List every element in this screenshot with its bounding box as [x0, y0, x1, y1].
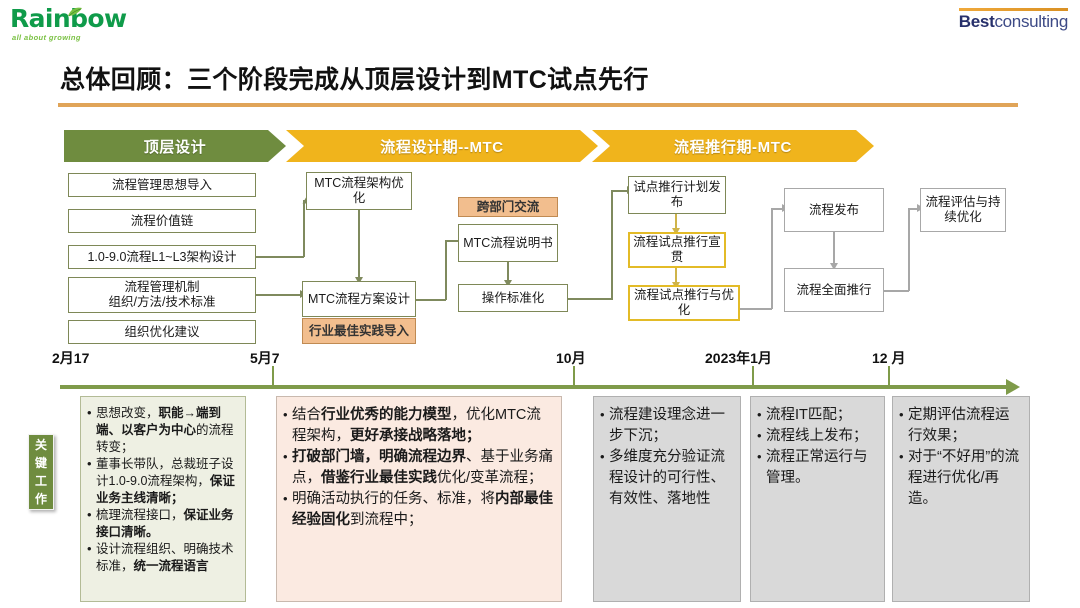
best-logo-bold: Best [959, 12, 995, 31]
best-logo-light: consulting [994, 12, 1068, 31]
slide-root: Rainbow all about growing Bestconsulting… [0, 0, 1080, 608]
rainbow-logo: Rainbow all about growing [10, 6, 140, 44]
connector-l1l3-to-arch-v [303, 200, 305, 257]
flow-box-mgmt-mechanism[interactable]: 流程管理机制 组织/方法/技术标准 [68, 277, 256, 313]
connector-full-to-assess-v [908, 208, 910, 291]
flow-box-process-release[interactable]: 流程发布 [784, 188, 884, 232]
note-item: 流程线上发布； [757, 426, 878, 447]
timeline-arrow-head [1006, 379, 1020, 395]
flow-box-value-chain[interactable]: 流程价值链 [68, 209, 256, 233]
flow-box-mgmt-mechanism-line1: 流程管理机制 [124, 280, 199, 295]
title-underline [58, 103, 1018, 107]
note-item: 董事长带队，总裁班子设计1.0-9.0流程架构，保证业务主线清晰； [87, 456, 239, 507]
connector-manual-to-std-v [507, 262, 509, 282]
note-item: 流程IT匹配； [757, 405, 878, 426]
timeline-label-0: 2月17 [52, 348, 89, 368]
connector-scheme-to-manual-v [445, 240, 447, 300]
note-panel-5[interactable]: 定期评估流程运行效果；对于“不好用”的流程进行优化/再造。 [892, 396, 1030, 602]
flow-box-cross-department[interactable]: 跨部门交流 [458, 197, 558, 217]
phase-banner-2[interactable]: 流程设计期--MTC [286, 130, 598, 162]
key-work-badge-c1: 关 [35, 436, 47, 454]
flow-box-mtc-architecture[interactable]: MTC流程架构优化 [306, 172, 412, 210]
flow-box-assess-continuous-optimize[interactable]: 流程评估与持续优化 [920, 188, 1006, 232]
connector-l1l3-to-arch-h [256, 256, 304, 258]
best-logo-text: Bestconsulting [959, 12, 1068, 32]
timeline-tick-3 [752, 366, 754, 386]
connector-arch-to-scheme-v [358, 210, 360, 278]
phase-banner-3[interactable]: 流程推行期-MTC [592, 130, 874, 162]
connector-optimize-to-release-v [771, 208, 773, 309]
leaf-icon [67, 7, 83, 17]
timeline-label-4: 12 月 [872, 348, 905, 368]
note-item: 流程正常运行与管理。 [757, 447, 878, 489]
connector-full-to-assess-h1 [884, 290, 909, 292]
phase-banner-1[interactable]: 顶层设计 [64, 130, 286, 162]
timeline-tick-4 [888, 366, 890, 386]
flow-box-l1l3-architecture[interactable]: 1.0-9.0流程L1~L3架构设计 [68, 245, 256, 269]
key-work-badge-c2: 键 [35, 454, 47, 472]
rainbow-logo-tagline: all about growing [12, 33, 140, 42]
note-item: 思想改变，职能→端到端、以客户为中心的流程转变； [87, 405, 239, 456]
timeline-label-1: 5月7 [250, 348, 280, 368]
timeline-label-2: 10月 [556, 348, 586, 368]
key-work-badge-c4: 作 [35, 490, 47, 508]
note-item: 设计流程组织、明确技术标准，统一流程语言 [87, 541, 239, 575]
flow-box-operation-standardize[interactable]: 操作标准化 [458, 284, 568, 312]
timeline-tick-1 [272, 366, 274, 386]
connector-std-to-plan-v [611, 190, 613, 300]
note-panel-4-list: 流程IT匹配；流程线上发布；流程正常运行与管理。 [757, 405, 878, 489]
key-work-badge-c3: 工 [35, 472, 47, 490]
flow-box-mtc-architecture-line1: MTC流程架构优化 [310, 176, 408, 206]
best-logo-bar [959, 8, 1068, 11]
flow-box-full-promotion[interactable]: 流程全面推行 [784, 268, 884, 312]
flow-box-mgmt-mechanism-line2: 组织/方法/技术标准 [109, 295, 216, 310]
connector-mech-to-scheme-h [256, 294, 302, 296]
note-item: 明确活动执行的任务、标准，将内部最佳经验固化到流程中； [283, 489, 555, 531]
note-panel-3[interactable]: 流程建设理念进一步下沉；多维度充分验证流程设计的可行性、有效性、落地性 [593, 396, 741, 602]
note-panel-1[interactable]: 思想改变，职能→端到端、以客户为中心的流程转变；董事长带队，总裁班子设计1.0-… [80, 396, 246, 602]
note-item: 结合行业优秀的能力模型，优化MTC流程架构，更好承接战略落地； [283, 405, 555, 447]
flow-box-process-mgmt-intro[interactable]: 流程管理思想导入 [68, 173, 256, 197]
connector-release-to-full-v [833, 232, 835, 265]
note-item: 定期评估流程运行效果； [899, 405, 1023, 447]
flow-box-mtc-manual[interactable]: MTC流程说明书 [458, 224, 558, 262]
connector-optimize-to-release-h1 [740, 308, 772, 310]
note-panel-1-list: 思想改变，职能→端到端、以客户为中心的流程转变；董事长带队，总裁班子设计1.0-… [87, 405, 239, 575]
flow-box-pilot-optimize[interactable]: 流程试点推行与优化 [628, 285, 740, 321]
note-panel-2-list: 结合行业优秀的能力模型，优化MTC流程架构，更好承接战略落地；打破部门墙，明确流… [283, 405, 555, 531]
best-consulting-logo: Bestconsulting [959, 8, 1068, 32]
note-item: 对于“不好用”的流程进行优化/再造。 [899, 447, 1023, 510]
note-item: 多维度充分验证流程设计的可行性、有效性、落地性 [600, 447, 734, 510]
note-item: 流程建设理念进一步下沉； [600, 405, 734, 447]
timeline-label-3: 2023年1月 [705, 348, 772, 368]
flow-box-pilot-plan-release[interactable]: 试点推行计划发布 [628, 176, 726, 214]
key-work-badge: 关 键 工 作 [28, 434, 54, 510]
flow-box-mtc-scheme-design[interactable]: MTC流程方案设计 [302, 281, 416, 317]
note-panel-2[interactable]: 结合行业优秀的能力模型，优化MTC流程架构，更好承接战略落地；打破部门墙，明确流… [276, 396, 562, 602]
connector-std-to-plan-h1 [568, 298, 613, 300]
note-panel-4[interactable]: 流程IT匹配；流程线上发布；流程正常运行与管理。 [750, 396, 885, 602]
flow-box-pilot-promotion[interactable]: 流程试点推行宣贯 [628, 232, 726, 268]
page-title: 总体回顾：三个阶段完成从顶层设计到MTC试点先行 [60, 60, 649, 96]
note-panel-3-list: 流程建设理念进一步下沉；多维度充分验证流程设计的可行性、有效性、落地性 [600, 405, 734, 510]
note-panel-5-list: 定期评估流程运行效果；对于“不好用”的流程进行优化/再造。 [899, 405, 1023, 510]
flow-box-org-optimization[interactable]: 组织优化建议 [68, 320, 256, 344]
connector-std-to-plan-h2 [611, 190, 628, 192]
note-item: 梳理流程接口，保证业务接口清晰。 [87, 507, 239, 541]
timeline-tick-2 [573, 366, 575, 386]
connector-scheme-to-manual-h1 [416, 299, 446, 301]
timeline-axis [60, 385, 1010, 389]
flow-box-industry-best-practice[interactable]: 行业最佳实践导入 [302, 318, 416, 344]
note-item: 打破部门墙，明确流程边界、基于业务痛点，借鉴行业最佳实践优化/变革流程； [283, 447, 555, 489]
